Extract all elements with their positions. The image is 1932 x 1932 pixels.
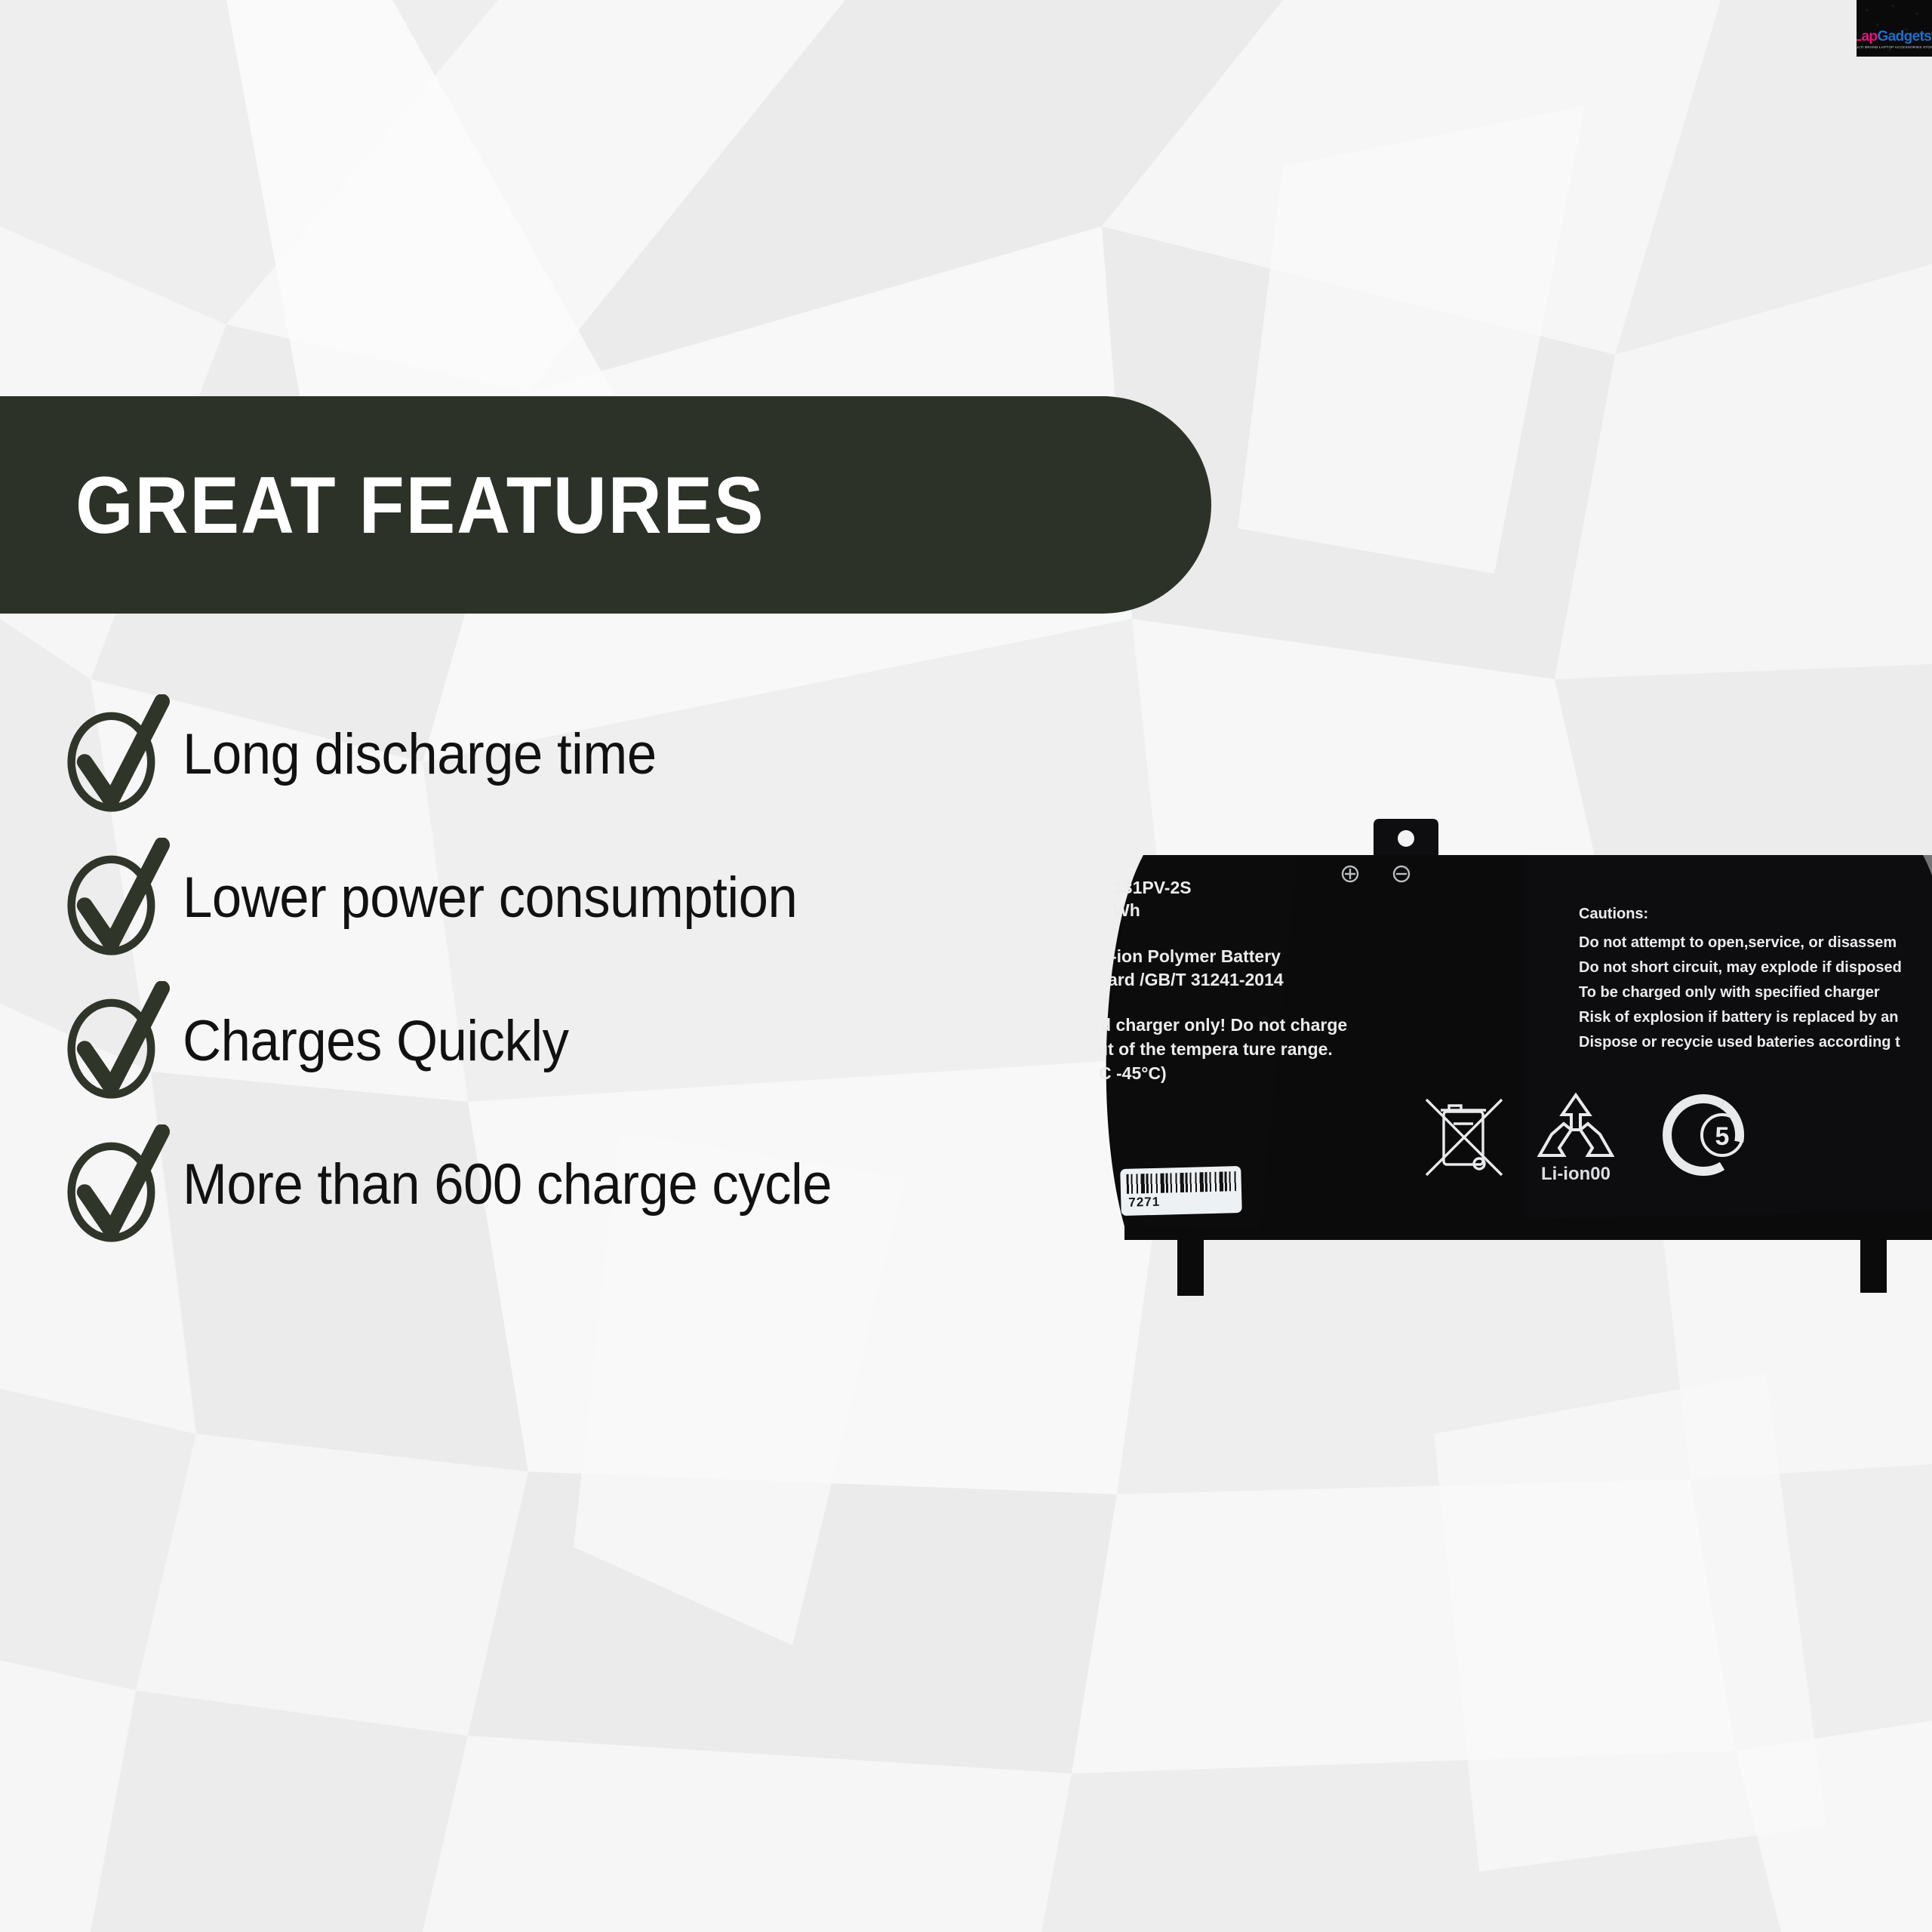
list-item-label: Charges Quickly	[183, 1013, 569, 1070]
caution-line: Do not attempt to open,service, or disas…	[1579, 932, 1897, 954]
caution-line: Risk of explosion if battery is replaced…	[1579, 1007, 1898, 1029]
brand-logo-tile: LapGadgets® MULTI BRAND LAPTOP ACCESSORI…	[1857, 0, 1932, 57]
list-item-label: Lower power consumption	[183, 869, 797, 927]
caution-line: Dispose or recycie used bateries accordi…	[1579, 1032, 1900, 1054]
list-item: Long discharge time	[54, 683, 1156, 826]
logo-tile-pattern	[1857, 0, 1932, 57]
check-circle-icon	[54, 836, 183, 961]
caution-line: To be charged only with specified charge…	[1579, 982, 1880, 1004]
laptop-battery-photo: Li-ion00 5 131PV-2S Wh -ion Polymer Batt…	[1072, 819, 1932, 1324]
list-item: More than 600 charge cycle	[54, 1113, 1156, 1257]
caution-line: Do not short circuit, may explode if dis…	[1579, 957, 1902, 979]
feature-list: Long discharge time Lower power consumpt…	[54, 683, 1156, 1257]
check-circle-icon	[54, 1123, 183, 1247]
page-title: GREAT FEATURES	[75, 458, 765, 552]
list-item: Charges Quickly	[54, 970, 1156, 1113]
list-item: Lower power consumption	[54, 826, 1156, 970]
svg-text:Li-ion00: Li-ion00	[1541, 1164, 1611, 1184]
check-circle-icon	[54, 693, 183, 817]
svg-text:5: 5	[1715, 1122, 1730, 1151]
list-item-label: More than 600 charge cycle	[183, 1156, 832, 1214]
cautions-heading: Cautions:	[1579, 903, 1648, 925]
list-item-label: Long discharge time	[183, 726, 657, 783]
headline-banner: GREAT FEATURES	[0, 396, 1211, 614]
check-circle-icon	[54, 980, 183, 1104]
